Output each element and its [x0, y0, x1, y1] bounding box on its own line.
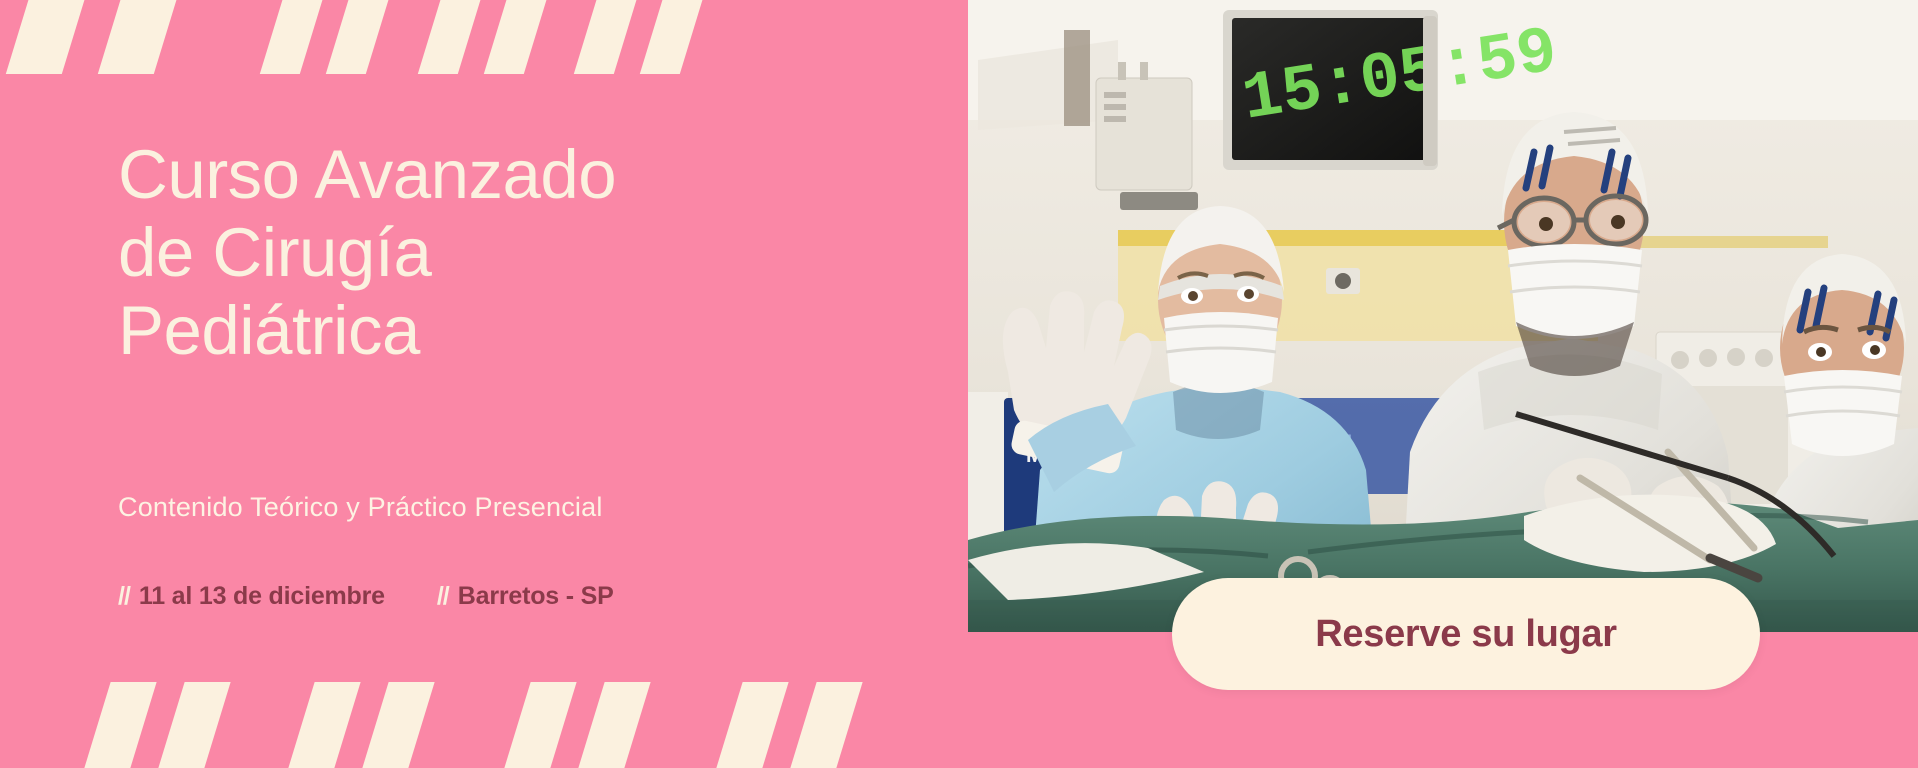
page-title: Curso Avanzado de Cirugía Pediátrica [118, 136, 918, 370]
slash-marker-icon: // [437, 582, 449, 611]
banner-subtitle: Contenido Teórico y Práctico Presencial [118, 492, 603, 523]
banner-meta-row: // 11 al 13 de diciembre // Barretos - S… [118, 582, 614, 611]
event-location: Barretos - SP [458, 582, 614, 611]
event-date: 11 al 13 de diciembre [139, 582, 385, 611]
slash-marker-icon: // [118, 582, 130, 611]
promo-banner: Curso Avanzado de Cirugía Pediátrica Con… [0, 0, 1918, 768]
meta-item-date: // 11 al 13 de diciembre [118, 582, 385, 611]
meta-item-location: // Barretos - SP [437, 582, 614, 611]
reserve-button[interactable]: Reserve su lugar [1172, 578, 1760, 690]
banner-content: Curso Avanzado de Cirugía Pediátrica Con… [0, 0, 968, 768]
surgery-photo: 15:05:59 [968, 0, 1918, 632]
